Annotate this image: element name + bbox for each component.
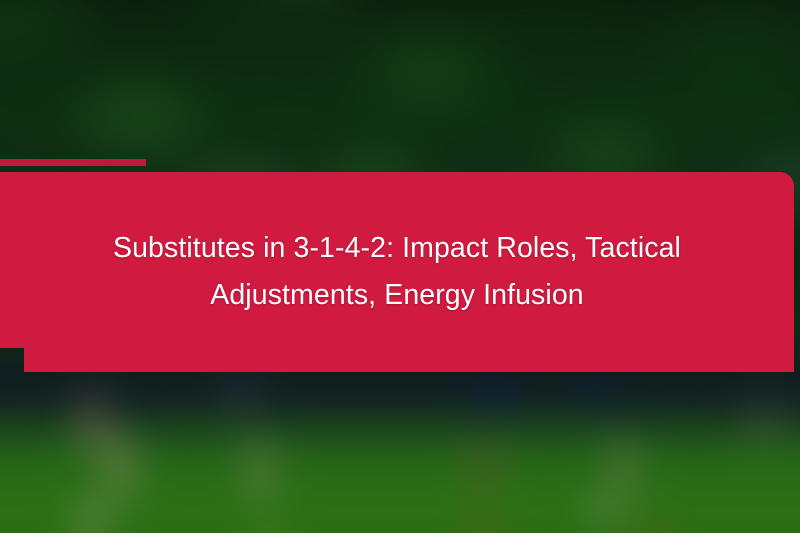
page-title: Substitutes in 3-1-4-2: Impact Roles, Ta… xyxy=(60,225,734,319)
title-banner: Substitutes in 3-1-4-2: Impact Roles, Ta… xyxy=(0,172,794,372)
accent-bar xyxy=(0,159,146,166)
featured-image-card: Substitutes in 3-1-4-2: Impact Roles, Ta… xyxy=(0,0,800,533)
